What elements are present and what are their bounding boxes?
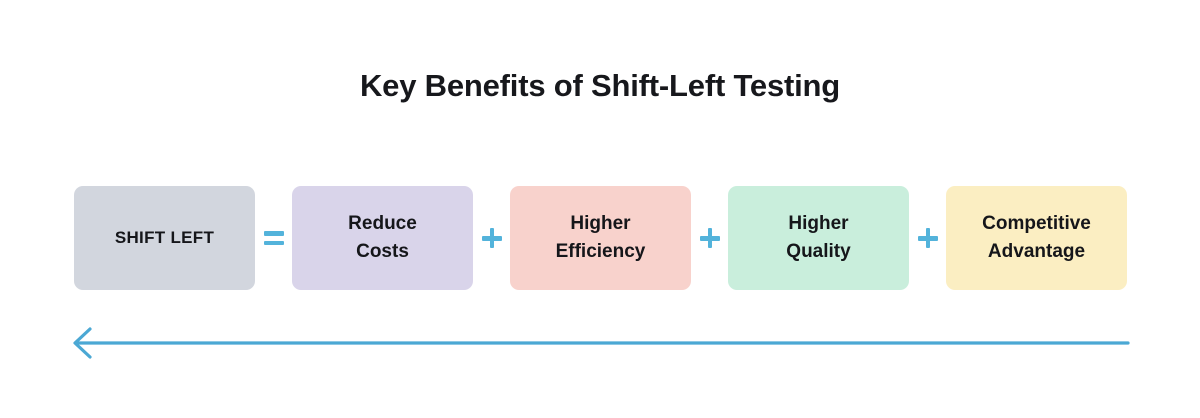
operator-plus-1 <box>474 186 510 290</box>
benefit-label-reduce-costs: Reduce Costs <box>340 210 425 266</box>
benefit-label-competitive-advantage: Competitive Advantage <box>974 210 1099 266</box>
plus-icon <box>918 228 938 248</box>
shift-left-benefits-infographic: Key Benefits of Shift-Left Testing SHIFT… <box>0 0 1200 418</box>
operator-equals <box>256 186 292 290</box>
shift-left-source-box: SHIFT LEFT <box>74 186 255 290</box>
shift-left-source-label: SHIFT LEFT <box>107 224 222 252</box>
benefit-label-higher-quality: Higher Quality <box>778 210 858 266</box>
equation-row: SHIFT LEFT Reduce Costs Higher Efficienc… <box>74 186 1127 290</box>
benefit-box-higher-efficiency: Higher Efficiency <box>510 186 691 290</box>
benefit-box-reduce-costs: Reduce Costs <box>292 186 473 290</box>
shift-left-direction-arrow <box>70 324 1132 362</box>
benefit-box-higher-quality: Higher Quality <box>728 186 909 290</box>
operator-plus-3 <box>910 186 946 290</box>
plus-icon <box>482 228 502 248</box>
equals-icon <box>264 231 284 245</box>
page-title: Key Benefits of Shift-Left Testing <box>0 64 1200 108</box>
operator-plus-2 <box>692 186 728 290</box>
plus-icon <box>700 228 720 248</box>
left-arrow-icon <box>70 324 1132 362</box>
benefit-label-higher-efficiency: Higher Efficiency <box>548 210 654 266</box>
benefit-box-competitive-advantage: Competitive Advantage <box>946 186 1127 290</box>
